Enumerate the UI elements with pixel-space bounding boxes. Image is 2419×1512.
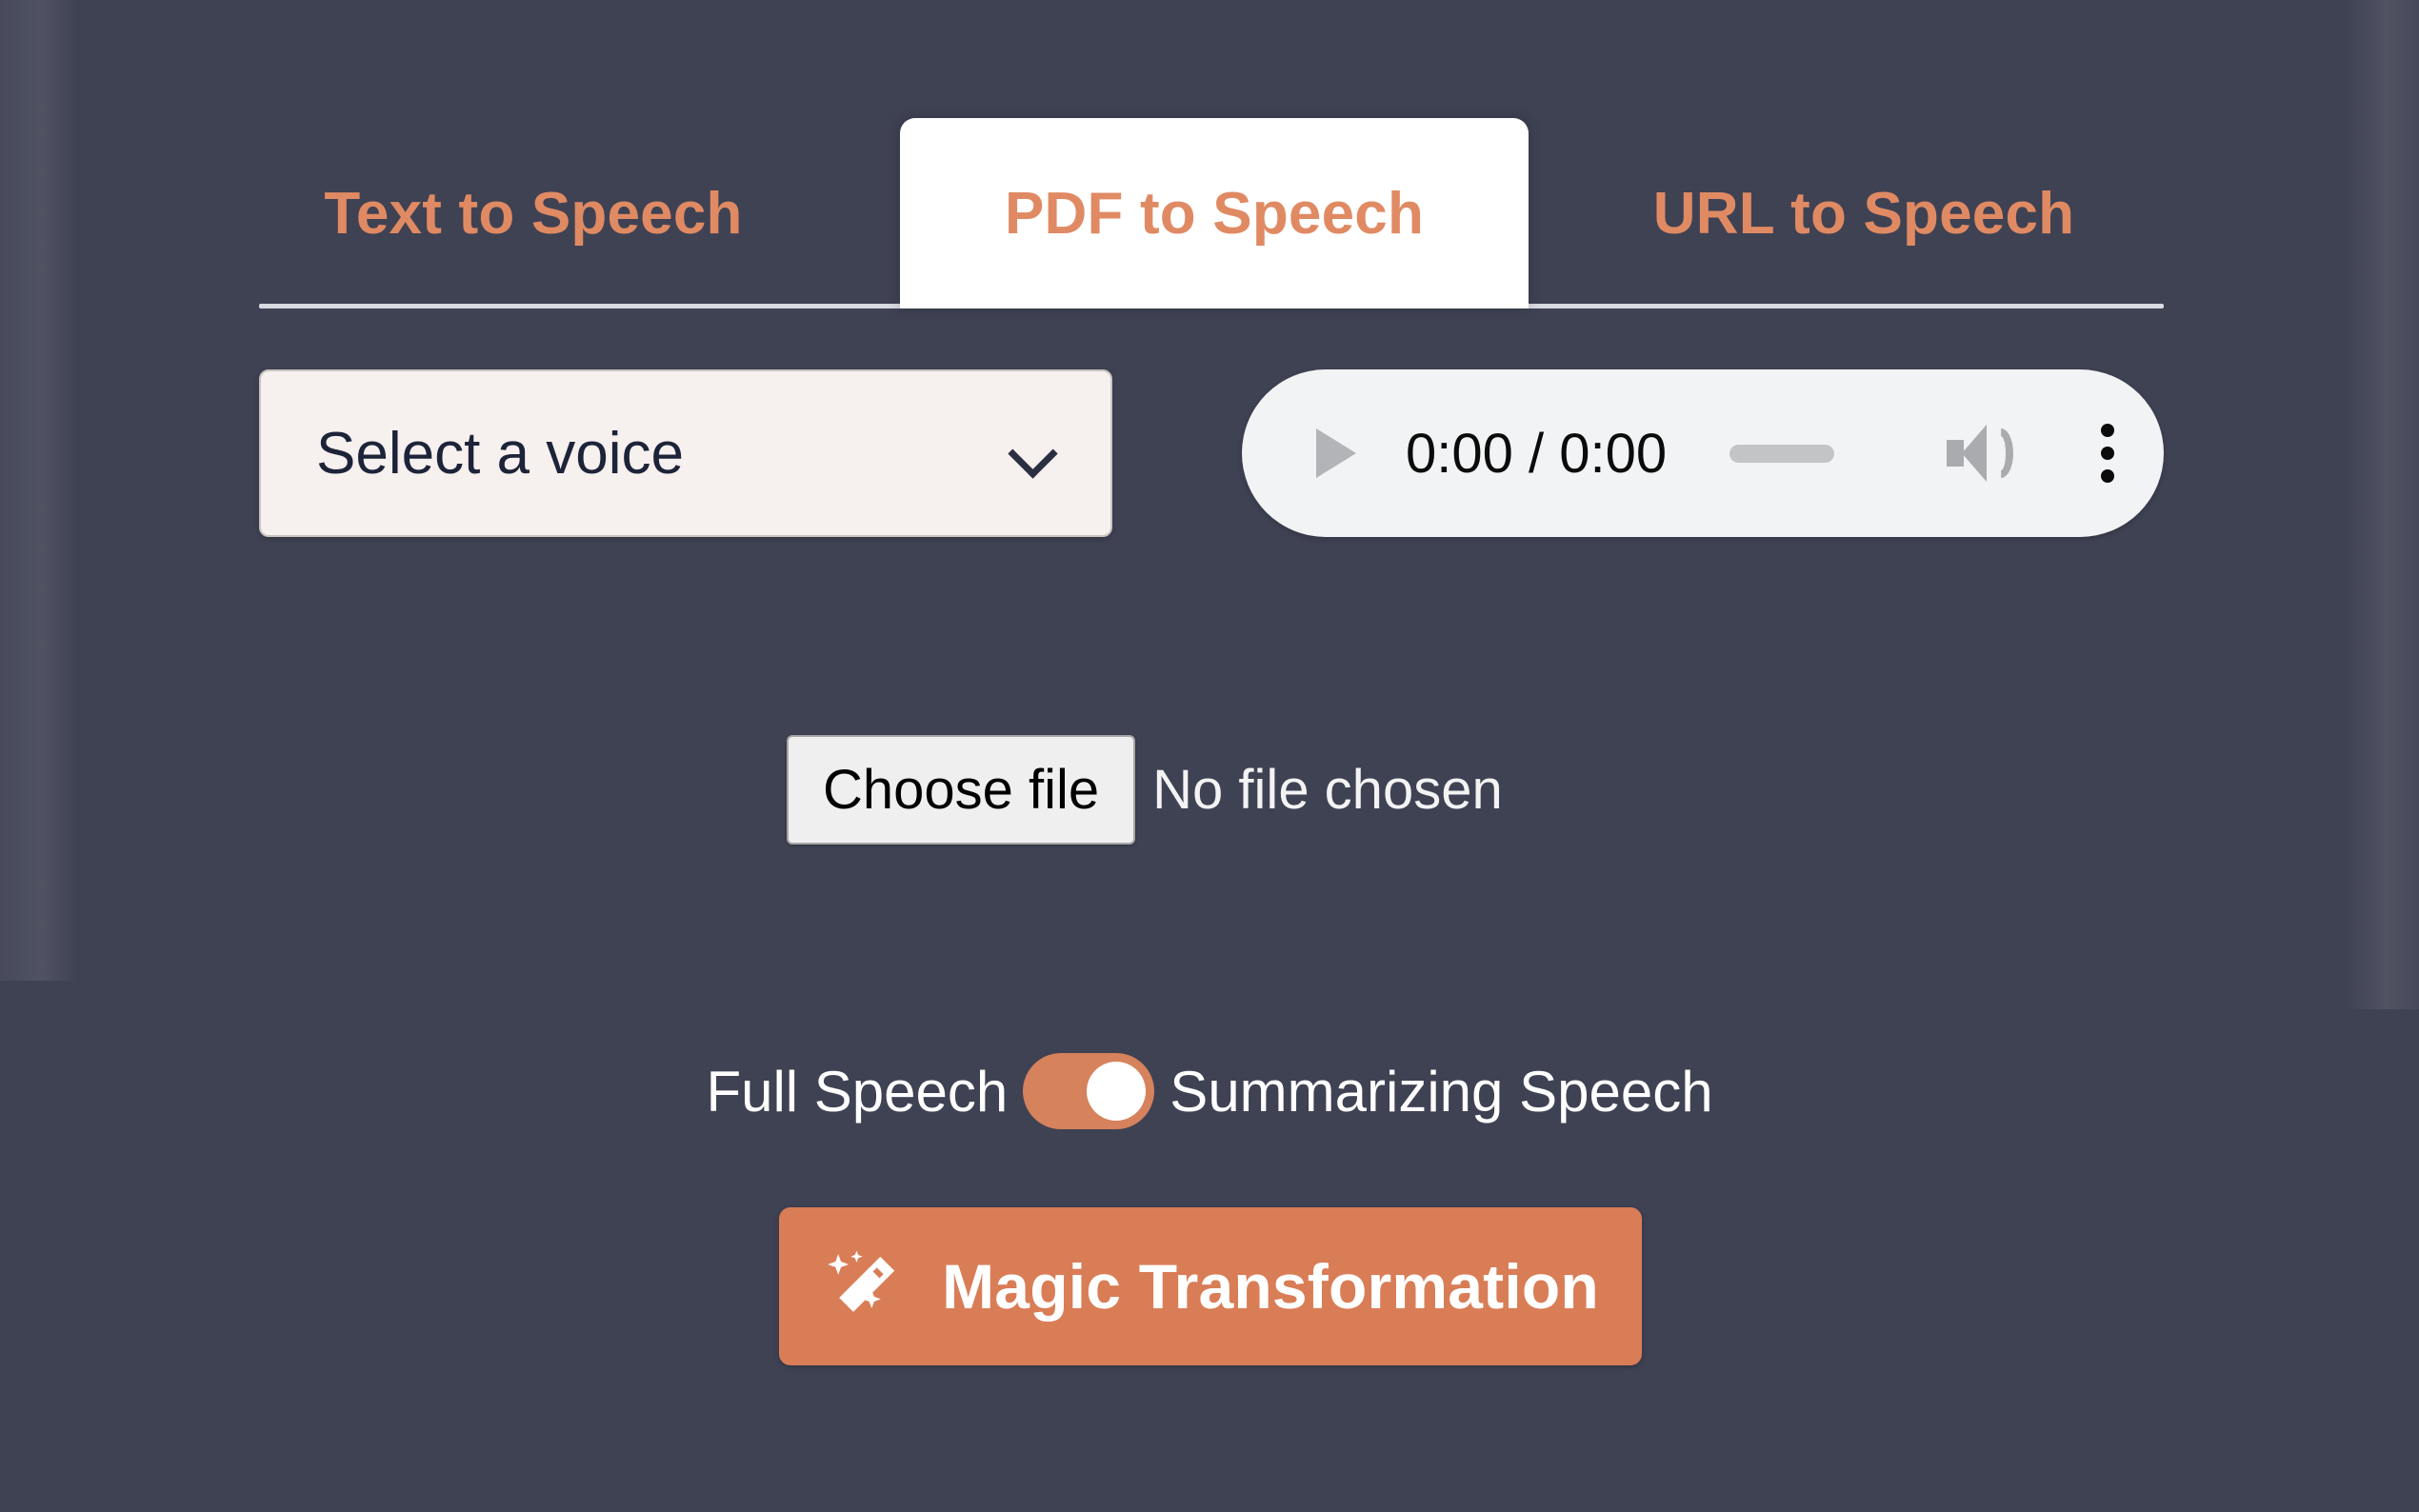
tab-text-to-speech-label: Text to Speech [324,180,742,248]
tab-pdf-to-speech[interactable]: PDF to Speech [900,118,1529,308]
controls-row: Select a voice 0:00 / 0:00 [259,369,2164,537]
toggle-knob [1087,1062,1146,1121]
magic-wand-icon [822,1245,906,1329]
file-status-text: No file chosen [1152,758,1503,822]
tab-url-to-speech[interactable]: URL to Speech [1588,118,2140,308]
tab-text-to-speech[interactable]: Text to Speech [267,118,800,308]
pdf-file-input: Choose file No file chosen [787,735,1503,845]
magic-transformation-label: Magic Transformation [942,1250,1599,1323]
summarizing-speech-label: Summarizing Speech [1170,1059,1712,1124]
magic-transformation-button[interactable]: Magic Transformation [779,1207,1642,1365]
voice-select[interactable]: Select a voice [259,369,1112,537]
more-vertical-icon[interactable] [2101,424,2114,483]
chevron-down-icon [1008,427,1061,480]
audio-time-display: 0:00 / 0:00 [1406,422,1667,486]
pdf-to-speech-app: Text to Speech PDF to Speech URL to Spee… [0,0,2419,1512]
speech-mode-toggle[interactable] [1023,1053,1154,1129]
tab-bar: Text to Speech PDF to Speech URL to Spee… [259,112,2164,312]
play-icon[interactable] [1316,428,1356,478]
audio-player[interactable]: 0:00 / 0:00 [1242,369,2164,537]
speech-mode-toggle-row: Full Speech Summarizing Speech [0,1053,2419,1129]
left-edge-glow [0,0,78,981]
full-speech-label: Full Speech [706,1059,1008,1124]
volume-slider[interactable] [1729,445,1834,463]
tab-url-to-speech-label: URL to Speech [1653,180,2074,248]
voice-select-value: Select a voice [316,420,684,487]
speaker-icon[interactable] [1947,423,2013,484]
tab-pdf-to-speech-label: PDF to Speech [1005,180,1424,248]
right-edge-glow [2345,0,2419,1009]
choose-file-button[interactable]: Choose file [787,735,1135,845]
